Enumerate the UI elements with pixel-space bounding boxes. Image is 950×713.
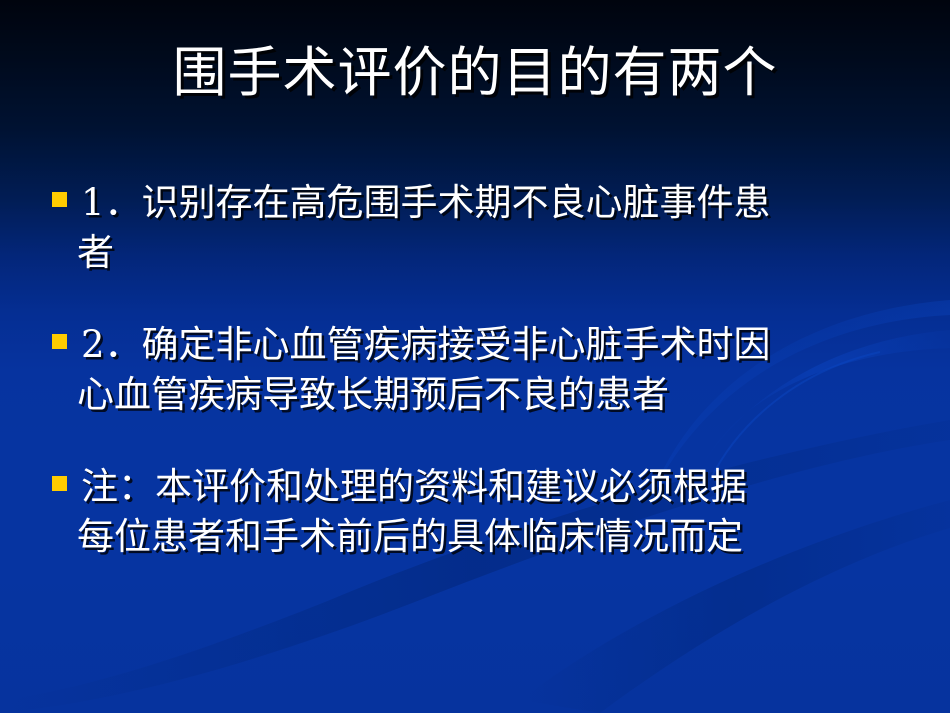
square-bullet-icon: [52, 476, 67, 491]
bullet-text-1: 1．识别存在高危围手术期不良心脏事件患 者: [81, 178, 908, 278]
list-item: 2．确定非心血管疾病接受非心脏手术时因 心血管疾病导致长期预后不良的患者: [52, 320, 908, 420]
bullet-line: 每位患者和手术前后的具体临床情况而定: [77, 512, 908, 562]
list-item: 1．识别存在高危围手术期不良心脏事件患 者: [52, 178, 908, 278]
presentation-slide: 围手术评价的目的有两个 1．识别存在高危围手术期不良心脏事件患 者 2．确定非心…: [0, 0, 950, 713]
slide-title-text: 围手术评价的目的有两个: [173, 44, 778, 102]
slide-title: 围手术评价的目的有两个: [0, 44, 950, 102]
bullet-line: 者: [77, 228, 908, 278]
square-bullet-icon: [52, 334, 67, 349]
bullet-text-2: 2．确定非心血管疾病接受非心脏手术时因 心血管疾病导致长期预后不良的患者: [81, 320, 908, 420]
bullet-line: 注：本评价和处理的资料和建议必须根据: [81, 462, 908, 512]
slide-body: 1．识别存在高危围手术期不良心脏事件患 者 2．确定非心血管疾病接受非心脏手术时…: [52, 178, 908, 562]
bullet-line: 2．确定非心血管疾病接受非心脏手术时因: [81, 320, 908, 370]
bullet-text-3: 注：本评价和处理的资料和建议必须根据 每位患者和手术前后的具体临床情况而定: [81, 462, 908, 562]
square-bullet-icon: [52, 192, 67, 207]
list-item: 注：本评价和处理的资料和建议必须根据 每位患者和手术前后的具体临床情况而定: [52, 462, 908, 562]
bullet-line: 1．识别存在高危围手术期不良心脏事件患: [81, 178, 908, 228]
bullet-line: 心血管疾病导致长期预后不良的患者: [77, 370, 908, 420]
